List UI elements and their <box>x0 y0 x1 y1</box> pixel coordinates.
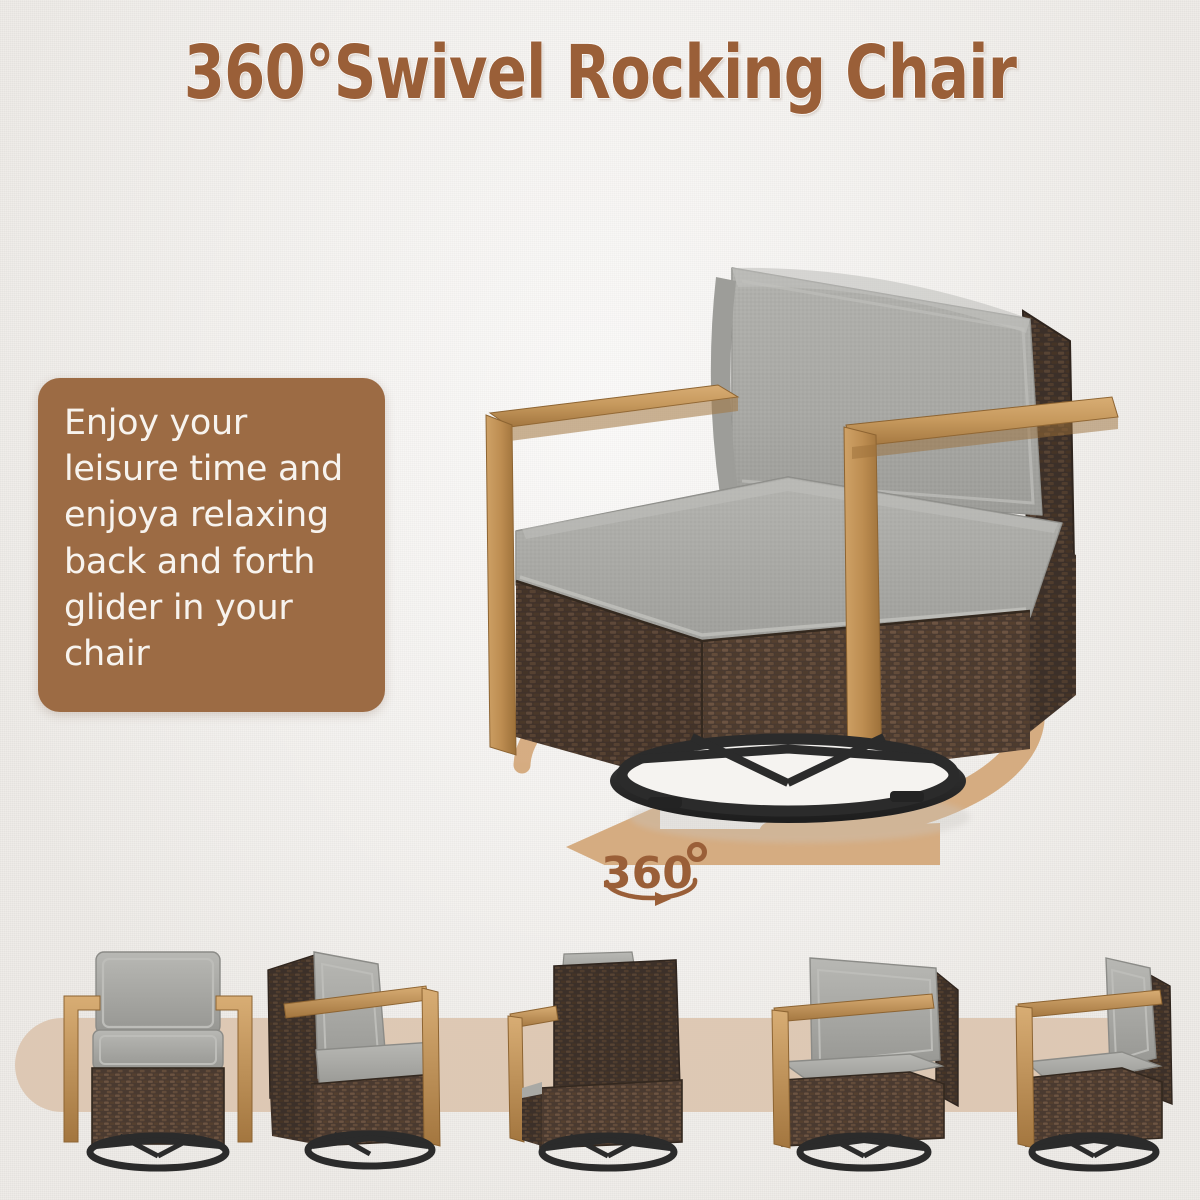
rotation-chair-3-rear <box>508 952 682 1168</box>
degree-symbol-icon <box>690 845 705 860</box>
rotation-strip <box>0 930 1200 1180</box>
rotation-chair-5-side-right <box>1016 958 1172 1168</box>
hero-product-image <box>470 225 1130 865</box>
feature-caption-card: Enjoy your leisure time and enjoya relax… <box>38 378 385 712</box>
feature-caption-text: Enjoy your leisure time and enjoya relax… <box>64 400 363 677</box>
rotation-chair-4-three-quarter-right <box>772 958 958 1168</box>
page-title: 360°Swivel Rocking Chair <box>120 36 1080 110</box>
rotation-chair-2-three-quarter-left <box>268 952 440 1166</box>
badge-number: 360 <box>601 848 693 899</box>
swivel-metal-base <box>610 737 966 823</box>
rotation-chair-1-front <box>64 952 252 1168</box>
product-marketing-canvas: 360°Swivel Rocking Chair Enjoy your leis… <box>0 0 1200 1200</box>
swivel-360-badge: 360 <box>585 830 725 910</box>
